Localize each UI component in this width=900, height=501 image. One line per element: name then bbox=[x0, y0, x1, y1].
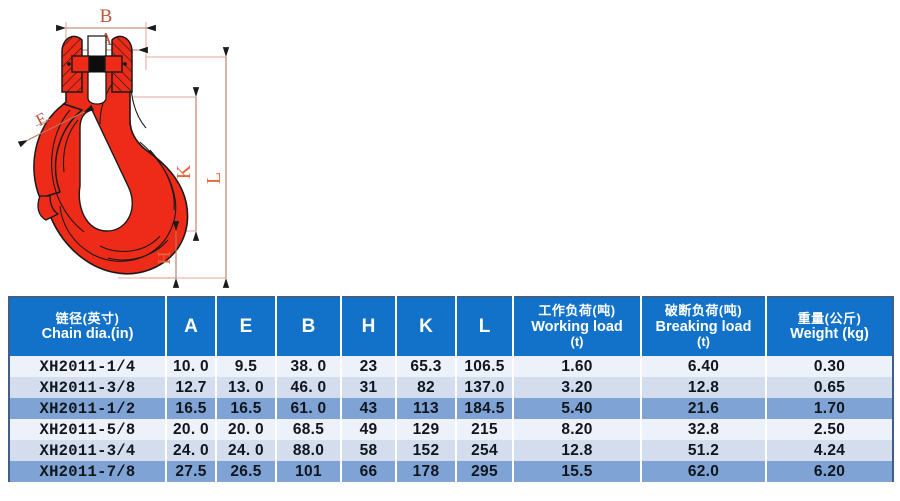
cell-value: 24. 0 bbox=[166, 440, 216, 461]
cell-value: 3.20 bbox=[513, 377, 641, 398]
cell-value: 58 bbox=[341, 440, 396, 461]
column-header-chain-dia: 链径(英寸) Chain dia.(in) bbox=[9, 297, 166, 356]
dimension-label-k: K bbox=[173, 164, 195, 179]
hook-dimension-drawing: B A bbox=[0, 0, 900, 292]
cell-value: 295 bbox=[456, 461, 513, 482]
cell-value: 1.60 bbox=[513, 356, 641, 377]
column-header-working-load: 工作负荷(吨) Working load (t) bbox=[513, 297, 641, 356]
table-row: XH2011-1/410. 09.538. 02365.3106.51.606.… bbox=[9, 356, 893, 377]
cell-chain-dia: XH2011-7/8 bbox=[9, 461, 166, 482]
cell-value: 82 bbox=[396, 377, 456, 398]
dimension-label-b: B bbox=[100, 6, 113, 27]
cell-value: 62.0 bbox=[641, 461, 766, 482]
column-header-h: H bbox=[341, 297, 396, 356]
column-header-weight: 重量(公斤) Weight (kg) bbox=[766, 297, 893, 356]
dimension-label-l: L bbox=[203, 172, 225, 184]
cell-value: 1.70 bbox=[766, 398, 893, 419]
cell-value: 12.8 bbox=[641, 377, 766, 398]
cell-chain-dia: XH2011-3/4 bbox=[9, 440, 166, 461]
table-row: XH2011-5/820. 020. 068.5491292158.2032.8… bbox=[9, 419, 893, 440]
cell-value: 5.40 bbox=[513, 398, 641, 419]
column-header-a: A bbox=[166, 297, 216, 356]
cell-value: 178 bbox=[396, 461, 456, 482]
cell-value: 16.5 bbox=[216, 398, 276, 419]
cell-value: 31 bbox=[341, 377, 396, 398]
cell-value: 12.7 bbox=[166, 377, 216, 398]
cell-value: 51.2 bbox=[641, 440, 766, 461]
cell-value: 49 bbox=[341, 419, 396, 440]
cell-chain-dia: XH2011-3/8 bbox=[9, 377, 166, 398]
cell-chain-dia: XH2011-5/8 bbox=[9, 419, 166, 440]
cell-value: 0.30 bbox=[766, 356, 893, 377]
cell-value: 27.5 bbox=[166, 461, 216, 482]
table-row: XH2011-3/812.713. 046. 03182137.03.2012.… bbox=[9, 377, 893, 398]
cell-value: 10. 0 bbox=[166, 356, 216, 377]
cell-value: 43 bbox=[341, 398, 396, 419]
table-row: XH2011-1/216.516.561. 043113184.55.4021.… bbox=[9, 398, 893, 419]
cell-value: 46. 0 bbox=[276, 377, 341, 398]
cell-value: 26.5 bbox=[216, 461, 276, 482]
cell-value: 137.0 bbox=[456, 377, 513, 398]
cell-value: 16.5 bbox=[166, 398, 216, 419]
cell-value: 8.20 bbox=[513, 419, 641, 440]
cell-value: 61. 0 bbox=[276, 398, 341, 419]
cell-value: 0.65 bbox=[766, 377, 893, 398]
cell-value: 24. 0 bbox=[216, 440, 276, 461]
cell-value: 15.5 bbox=[513, 461, 641, 482]
cell-value: 38. 0 bbox=[276, 356, 341, 377]
cell-value: 184.5 bbox=[456, 398, 513, 419]
column-header-k: K bbox=[396, 297, 456, 356]
cell-value: 20. 0 bbox=[166, 419, 216, 440]
cell-value: 13. 0 bbox=[216, 377, 276, 398]
cell-value: 152 bbox=[396, 440, 456, 461]
cell-value: 113 bbox=[396, 398, 456, 419]
cell-value: 32.8 bbox=[641, 419, 766, 440]
column-header-cn: 链径(英寸) bbox=[10, 312, 165, 327]
column-header-breaking-load: 破断负荷(吨) Breaking load (t) bbox=[641, 297, 766, 356]
cell-value: 6.40 bbox=[641, 356, 766, 377]
cell-value: 21.6 bbox=[641, 398, 766, 419]
column-header-e: E bbox=[216, 297, 276, 356]
cell-value: 88.0 bbox=[276, 440, 341, 461]
column-header-l: L bbox=[456, 297, 513, 356]
cell-value: 65.3 bbox=[396, 356, 456, 377]
dimension-b: B bbox=[66, 6, 146, 28]
table-row: XH2011-7/827.526.51016617829515.562.06.2… bbox=[9, 461, 893, 482]
cell-value: 106.5 bbox=[456, 356, 513, 377]
cell-value: 4.24 bbox=[766, 440, 893, 461]
hook-body bbox=[34, 36, 188, 274]
cell-value: 12.8 bbox=[513, 440, 641, 461]
cell-value: 2.50 bbox=[766, 419, 893, 440]
drawing-panel: B A bbox=[0, 0, 900, 292]
column-header-en: Chain dia.(in) bbox=[10, 326, 165, 342]
table-header-row: 链径(英寸) Chain dia.(in) A E B H K bbox=[9, 297, 893, 356]
dimension-label-h: H bbox=[154, 252, 174, 265]
cell-value: 215 bbox=[456, 419, 513, 440]
cell-value: 66 bbox=[341, 461, 396, 482]
column-header-b: B bbox=[276, 297, 341, 356]
cell-value: 254 bbox=[456, 440, 513, 461]
table-row: XH2011-3/424. 024. 088.05815225412.851.2… bbox=[9, 440, 893, 461]
cell-chain-dia: XH2011-1/2 bbox=[9, 398, 166, 419]
specification-table: 链径(英寸) Chain dia.(in) A E B H K bbox=[8, 296, 892, 482]
cell-chain-dia: XH2011-1/4 bbox=[9, 356, 166, 377]
cell-value: 20. 0 bbox=[216, 419, 276, 440]
cell-value: 23 bbox=[341, 356, 396, 377]
cell-value: 129 bbox=[396, 419, 456, 440]
cell-value: 68.5 bbox=[276, 419, 341, 440]
cell-value: 9.5 bbox=[216, 356, 276, 377]
cell-value: 101 bbox=[276, 461, 341, 482]
cell-value: 6.20 bbox=[766, 461, 893, 482]
dimension-l: L bbox=[203, 57, 226, 278]
